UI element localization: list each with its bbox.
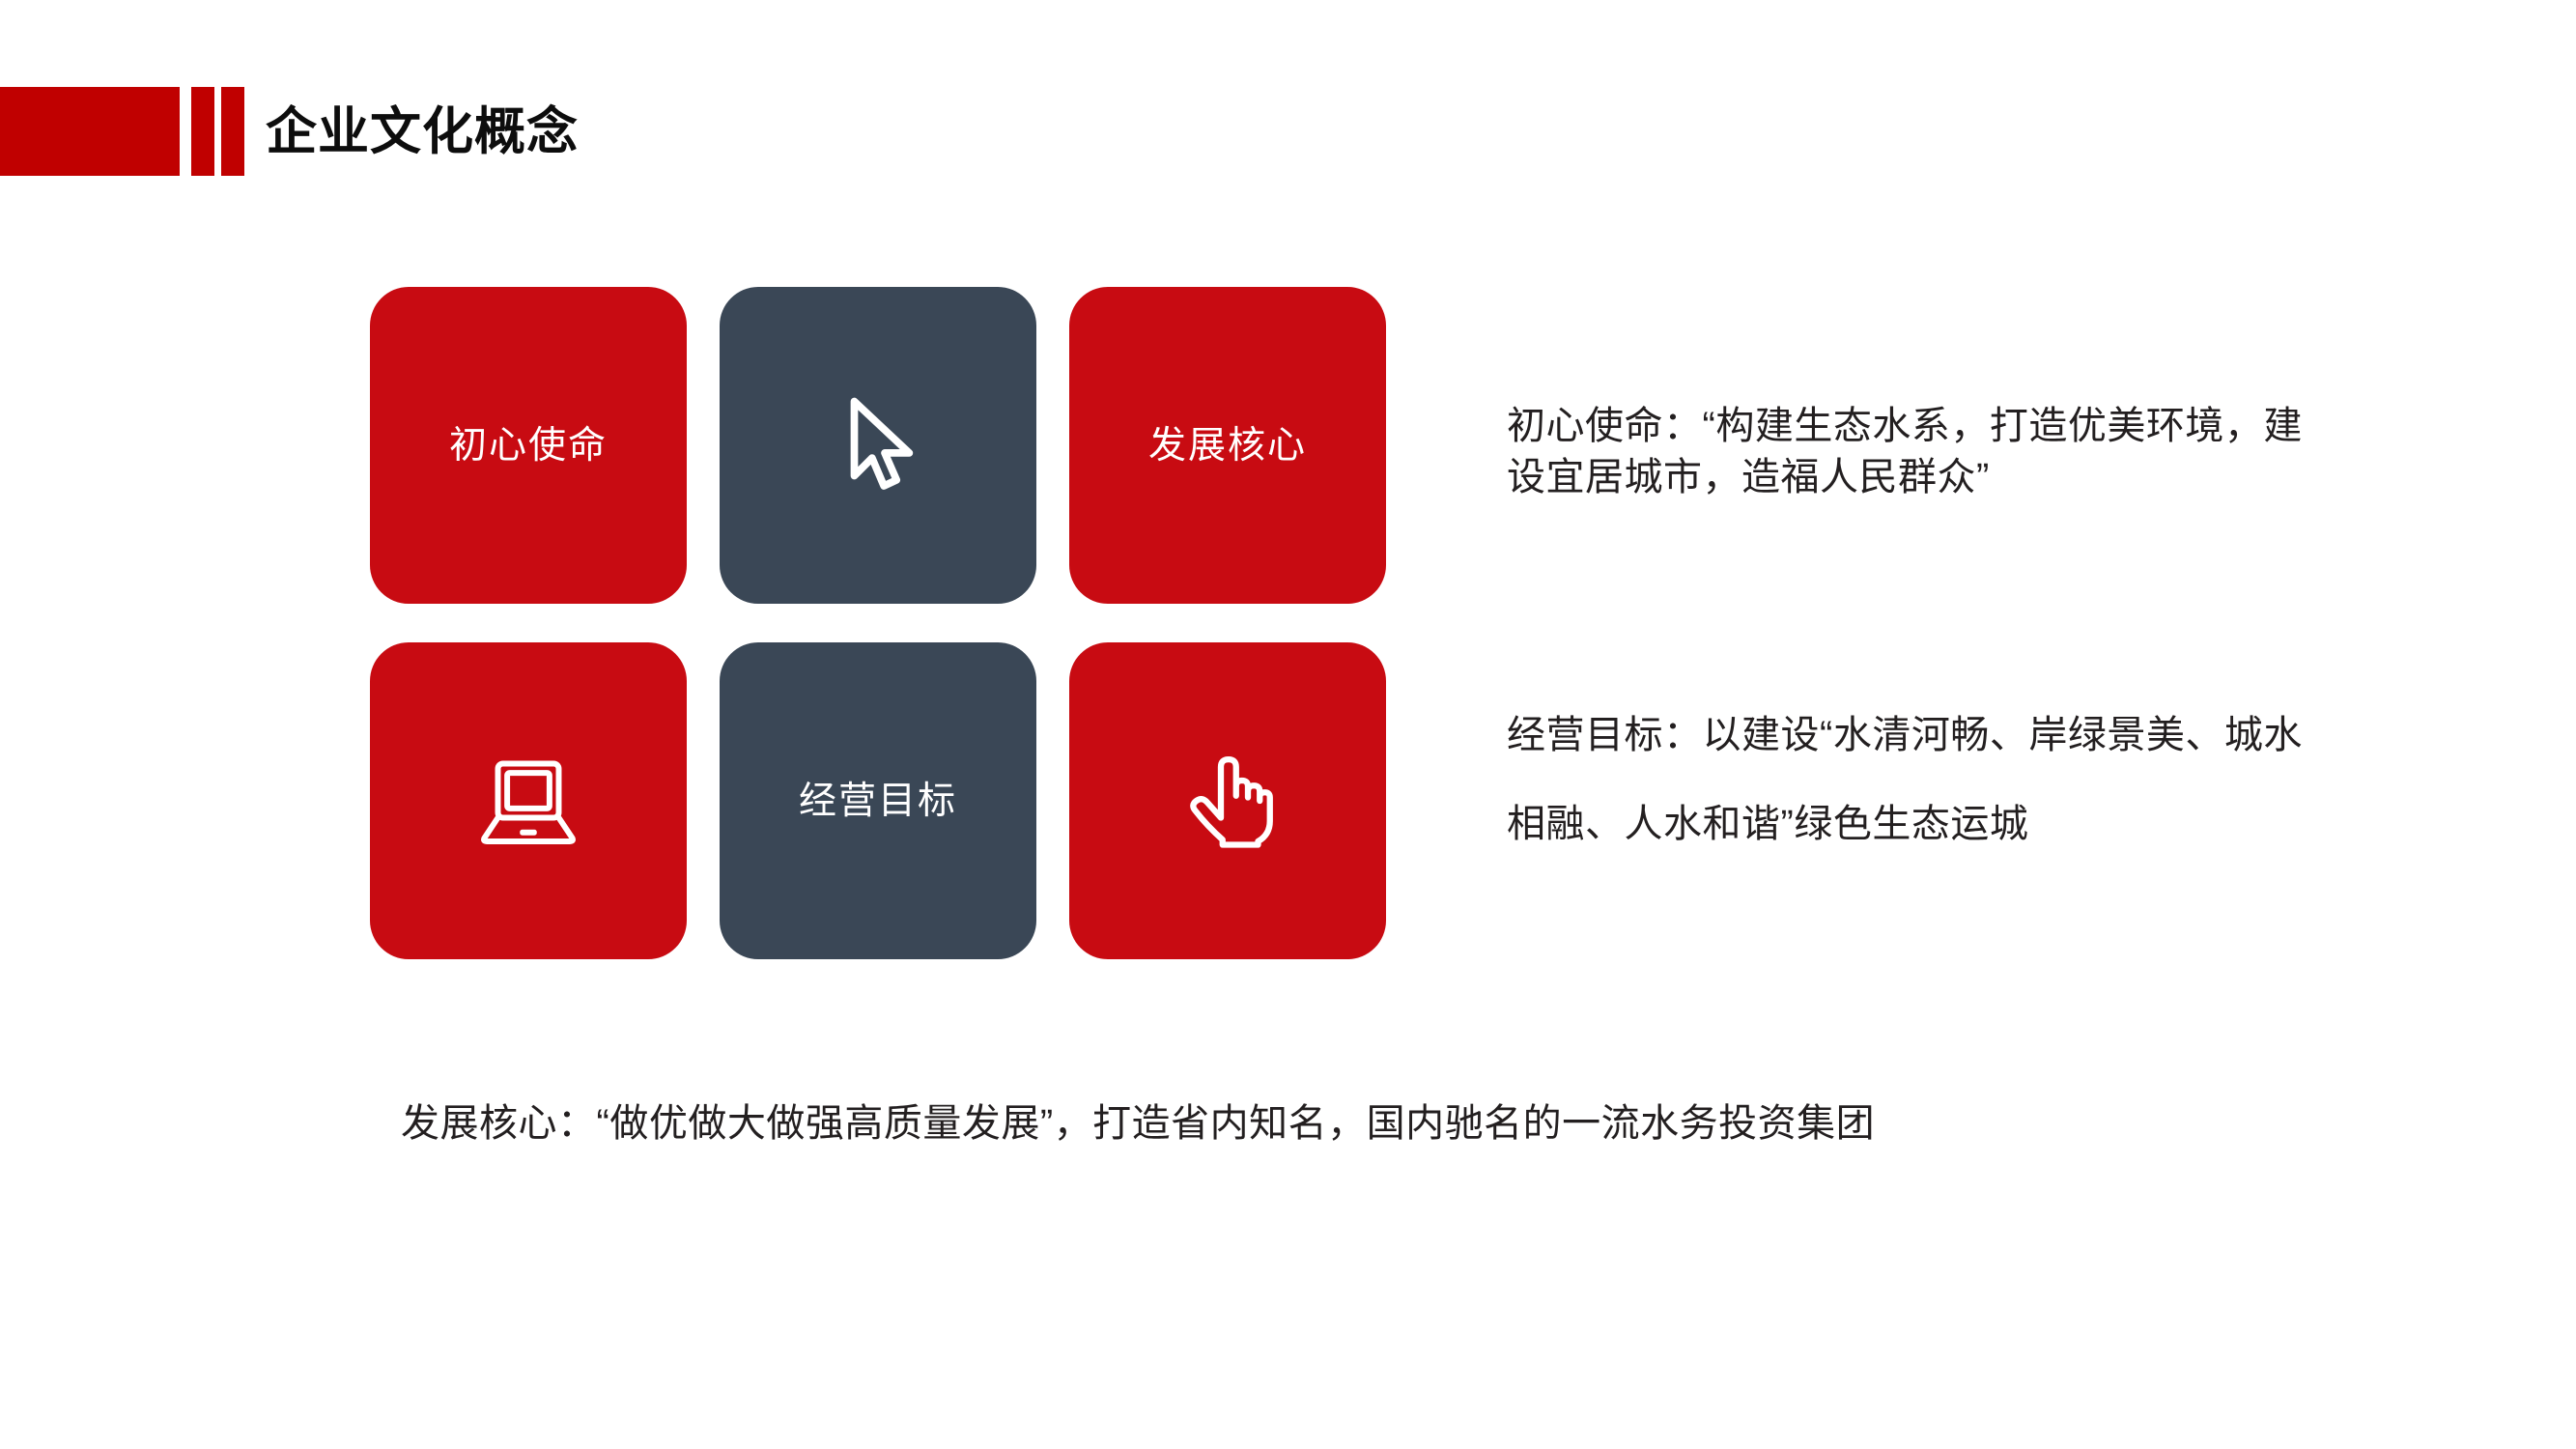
cursor-arrow-icon xyxy=(824,391,932,499)
tile-label-chuxin-shiming: 初心使命 xyxy=(449,427,608,465)
tile-jingying-mubiao[interactable]: 经营目标 xyxy=(720,642,1036,959)
tile-label-fazhan-hexin: 发展核心 xyxy=(1148,427,1307,465)
tile-chuxin-shiming[interactable]: 初心使命 xyxy=(370,287,687,604)
header-accent-bar-2 xyxy=(221,87,244,176)
tile-fazhan-hexin[interactable]: 发展核心 xyxy=(1069,287,1386,604)
page-title: 企业文化概念 xyxy=(266,106,579,157)
header-red-block xyxy=(0,87,180,176)
tile-pointing-hand[interactable] xyxy=(1069,642,1386,959)
tile-label-jingying-mubiao: 经营目标 xyxy=(799,782,957,820)
slide-canvas: 企业文化概念 初心使命 发展核心 xyxy=(0,0,2576,1449)
slide-header: 企业文化概念 xyxy=(0,87,579,176)
laptop-icon xyxy=(474,747,582,855)
pointing-hand-icon xyxy=(1174,747,1282,855)
tile-laptop[interactable] xyxy=(370,642,687,959)
paragraph-core: 发展核心：“做优做大做强高质量发展”，打造省内知名，国内驰名的一流水务投资集团 xyxy=(401,1079,2294,1169)
header-accent-bar-1 xyxy=(191,87,214,176)
paragraph-mission: 初心使命：“构建生态水系，打造优美环境，建设宜居城市，造福人民群众” xyxy=(1507,401,2328,503)
culture-tile-grid: 初心使命 发展核心 经营目标 xyxy=(370,287,1386,959)
paragraph-goal: 经营目标：以建设“水清河畅、岸绿景美、城水相融、人水和谐”绿色生态运城 xyxy=(1507,691,2328,868)
tile-cursor-arrow[interactable] xyxy=(720,287,1036,604)
